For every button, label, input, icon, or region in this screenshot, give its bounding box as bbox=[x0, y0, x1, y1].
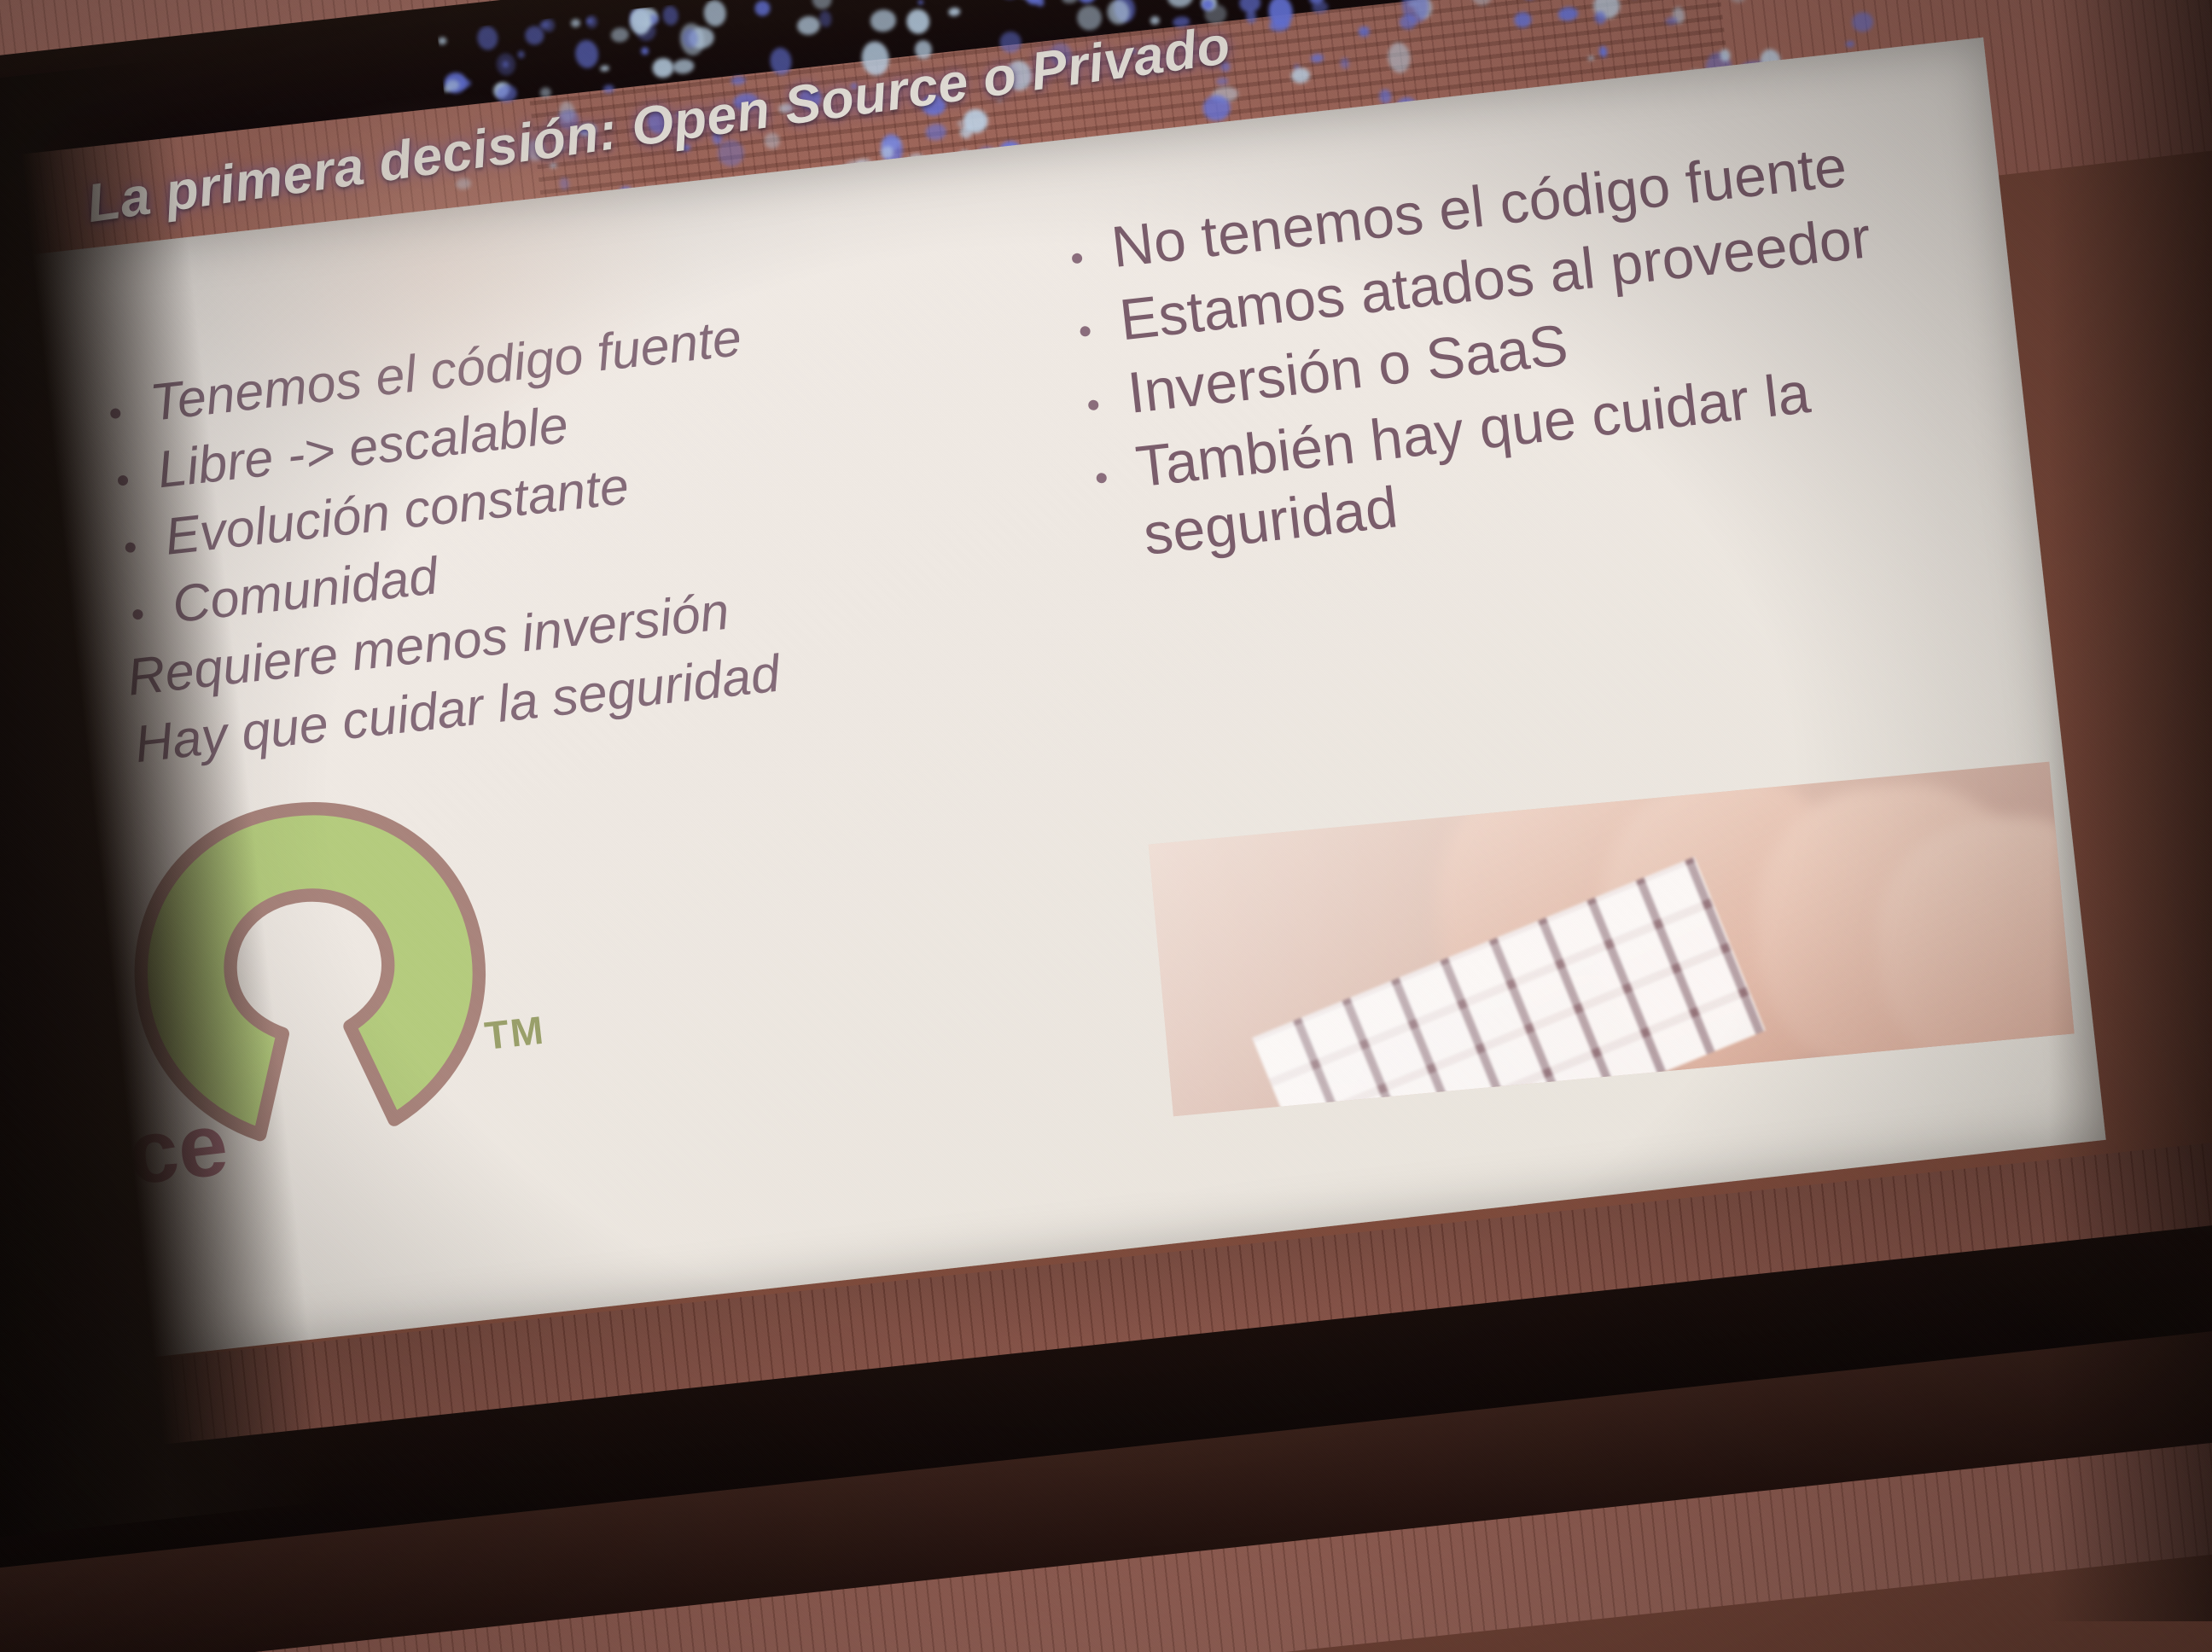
right-shadow bbox=[2048, 0, 2212, 1621]
trademark-symbol: TM bbox=[482, 1007, 547, 1059]
projection-screen: La primera decisión: Open Source o Priva… bbox=[0, 0, 2212, 1485]
room-photo-scene: La primera decisión: Open Source o Priva… bbox=[0, 0, 2212, 1652]
